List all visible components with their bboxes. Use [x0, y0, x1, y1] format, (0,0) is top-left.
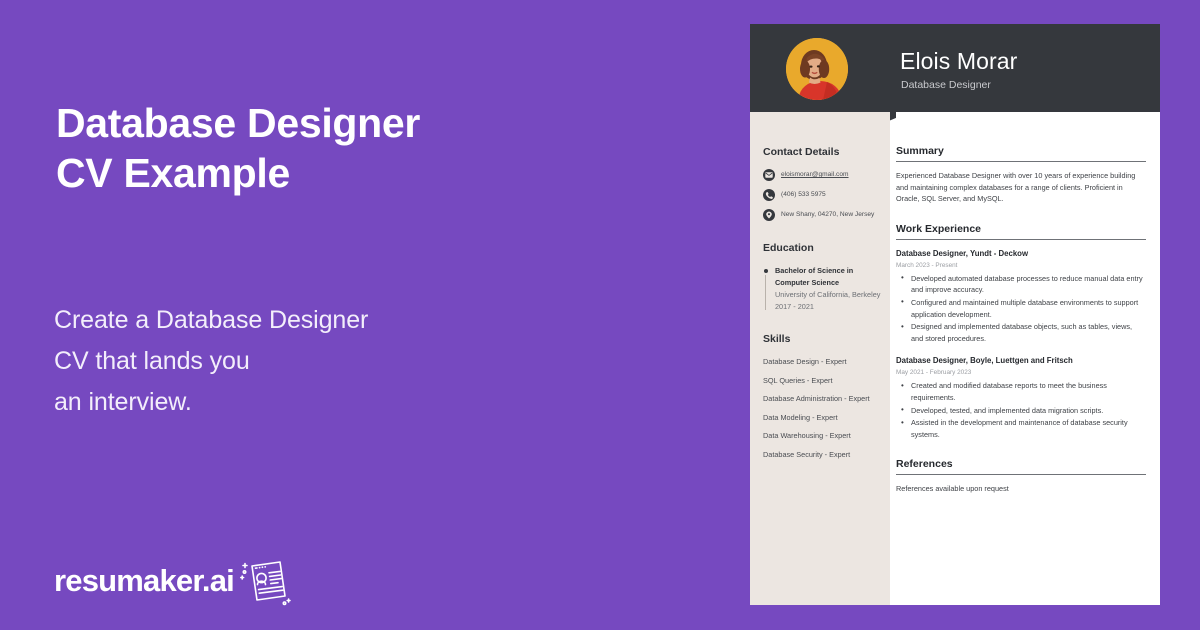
skill-item: Database Security - Expert: [763, 449, 881, 461]
job-bullet: Developed, tested, and implemented data …: [896, 405, 1146, 417]
promo-panel: Database Designer CV Example Create a Da…: [0, 0, 750, 630]
contact-details-heading: Contact Details: [763, 146, 881, 158]
phone-value: (406) 533 5975: [781, 189, 826, 201]
contact-item-address[interactable]: New Shany, 04270, New Jersey: [763, 209, 881, 221]
job-bullet: Assisted in the development and maintena…: [896, 417, 1146, 440]
job-bullet: Created and modified database reports to…: [896, 380, 1146, 403]
cv-preview-card[interactable]: Elois Morar Database Designer Contact De…: [750, 24, 1160, 605]
skill-item: SQL Queries - Expert: [763, 375, 881, 387]
job-title: Database Designer, Boyle, Luettgen and F…: [896, 355, 1146, 367]
summary-heading: Summary: [896, 145, 1146, 162]
skills-heading: Skills: [763, 333, 881, 345]
skill-item: Database Administration - Expert: [763, 393, 881, 405]
job-entry: Database Designer, Yundt - Deckow March …: [896, 248, 1146, 345]
education-degree: Bachelor of Science in Computer Science: [775, 265, 881, 288]
cv-sidebar: Contact Details eloismorar@gmail.com (40…: [750, 112, 890, 605]
page-title: Database Designer CV Example: [56, 98, 420, 198]
job-title: Database Designer, Yundt - Deckow: [896, 248, 1146, 260]
cv-role: Database Designer: [901, 79, 991, 91]
cv-name: Elois Morar: [900, 48, 1017, 75]
logo-wordmark: resumaker.ai: [54, 563, 234, 599]
job-bullet-list: Developed automated database processes t…: [896, 273, 1146, 345]
references-text: References available upon request: [896, 483, 1146, 495]
job-bullet: Designed and implemented database object…: [896, 321, 1146, 344]
job-dates: March 2023 - Present: [896, 260, 1146, 271]
job-bullet: Developed automated database processes t…: [896, 273, 1146, 296]
avatar: [786, 38, 848, 100]
job-entry: Database Designer, Boyle, Luettgen and F…: [896, 355, 1146, 440]
job-bullet-list: Created and modified database reports to…: [896, 380, 1146, 440]
skill-item: Data Warehousing - Expert: [763, 430, 881, 442]
envelope-icon: [763, 169, 775, 181]
cv-main-column: Summary Experienced Database Designer wi…: [896, 112, 1160, 605]
email-value: eloismorar@gmail.com: [781, 169, 849, 181]
education-item: Bachelor of Science in Computer Science …: [763, 265, 881, 312]
phone-icon: [763, 189, 775, 201]
education-bullet-icon: [764, 269, 768, 273]
education-dates: 2017 - 2021: [775, 301, 881, 313]
education-organization: University of California, Berkeley: [775, 289, 881, 301]
references-heading: References: [896, 458, 1146, 475]
resumaker-logo[interactable]: resumaker.ai: [54, 556, 292, 606]
summary-text: Experienced Database Designer with over …: [896, 170, 1146, 205]
education-timeline-line: [765, 275, 766, 310]
location-pin-icon: [763, 209, 775, 221]
skill-item: Data Modeling - Expert: [763, 412, 881, 424]
contact-item-phone[interactable]: (406) 533 5975: [763, 189, 881, 201]
education-timeline: [763, 265, 768, 312]
address-value: New Shany, 04270, New Jersey: [781, 209, 874, 221]
job-bullet: Configured and maintained multiple datab…: [896, 297, 1146, 320]
education-heading: Education: [763, 242, 881, 254]
resume-document-icon: [238, 556, 292, 606]
promo-subheading: Create a Database Designer CV that lands…: [54, 300, 368, 423]
job-dates: May 2021 - February 2023: [896, 367, 1146, 378]
work-experience-heading: Work Experience: [896, 223, 1146, 240]
contact-item-email[interactable]: eloismorar@gmail.com: [763, 169, 881, 181]
skill-item: Database Design - Expert: [763, 356, 881, 368]
